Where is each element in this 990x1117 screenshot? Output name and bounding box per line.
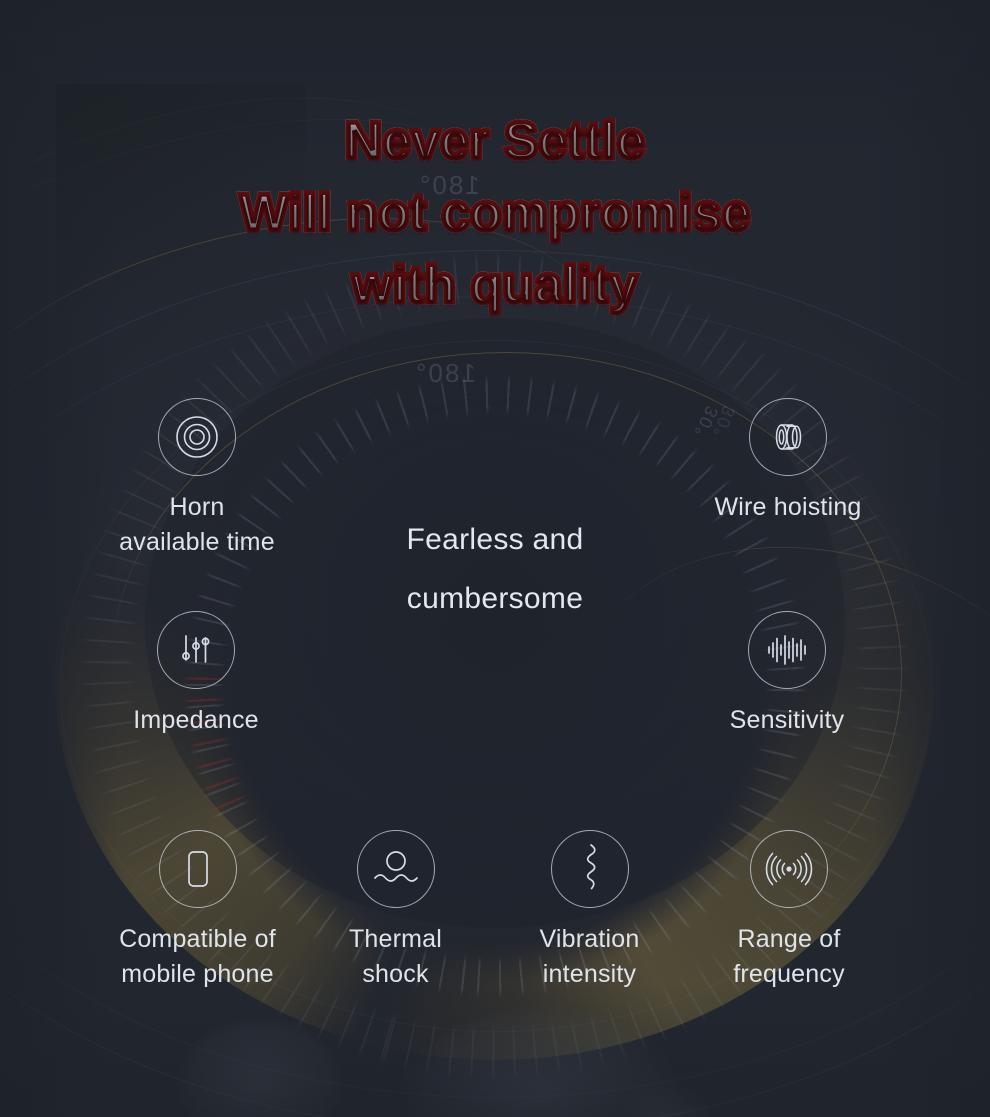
feature-range-of-frequency: Range of frequency xyxy=(679,830,899,991)
feature-label: Horn available time xyxy=(82,490,312,559)
feature-wire-hoisting: Wire hoisting xyxy=(673,398,903,525)
feature-label: Thermal shock xyxy=(293,922,498,991)
mobile-phone-icon xyxy=(159,830,237,908)
feature-label: Sensitivity xyxy=(672,703,902,738)
feature-sensitivity: Sensitivity xyxy=(672,611,902,738)
feature-compatible-mobile-phone: Compatible of mobile phone xyxy=(80,830,315,991)
feature-vibration-intensity: Vibration intensity xyxy=(487,830,692,991)
headline-line-2: Will not compromise xyxy=(0,178,990,250)
feature-horn-available-time: Horn available time xyxy=(82,398,312,559)
feature-label: Vibration intensity xyxy=(487,922,692,991)
feature-label: Wire hoisting xyxy=(673,490,903,525)
headline-block: Never Settle Will not compromise with qu… xyxy=(0,106,990,321)
equalizer-sliders-icon xyxy=(157,611,235,689)
feature-label: Impedance xyxy=(81,703,311,738)
wire-spool-icon xyxy=(749,398,827,476)
audio-waveform-icon xyxy=(748,611,826,689)
feature-impedance: Impedance xyxy=(81,611,311,738)
radio-waves-icon xyxy=(750,830,828,908)
concentric-circles-icon xyxy=(158,398,236,476)
headline-line-1: Never Settle xyxy=(0,106,990,178)
feature-label: Compatible of mobile phone xyxy=(80,922,315,991)
promo-banner: 180° 180° 30° 30° Never Settle Will not … xyxy=(0,0,990,1117)
feature-label: Range of frequency xyxy=(679,922,899,991)
sun-over-waves-icon xyxy=(357,830,435,908)
zigzag-vibration-icon xyxy=(551,830,629,908)
feature-thermal-shock: Thermal shock xyxy=(293,830,498,991)
headline-line-3: with quality xyxy=(0,250,990,322)
